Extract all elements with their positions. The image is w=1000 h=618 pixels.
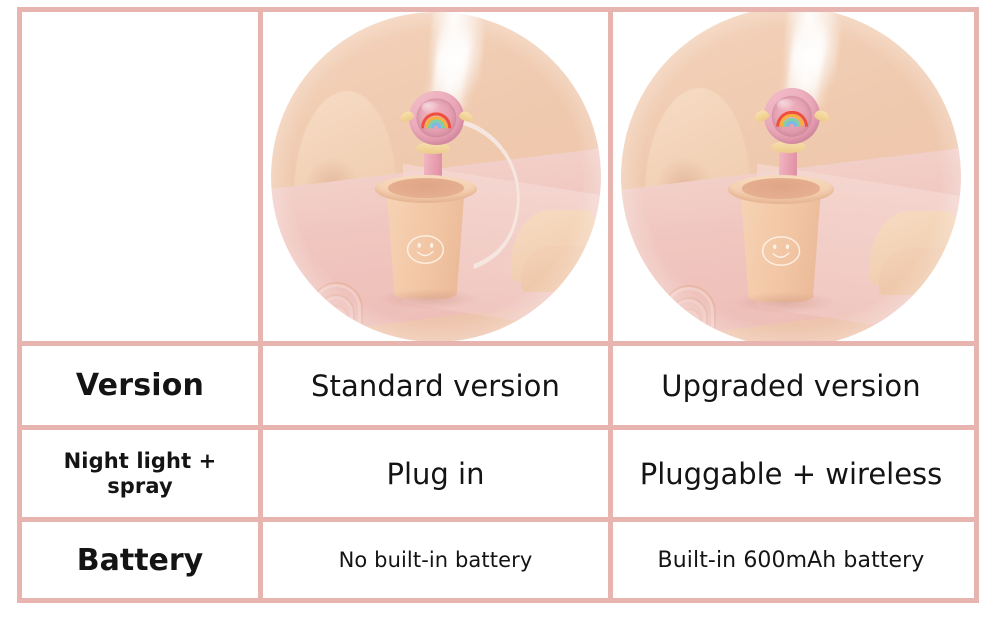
cell-battery-standard: No built-in battery <box>258 522 608 598</box>
row-label-night-light: Night light + spray <box>22 430 258 517</box>
wand-head <box>409 91 463 145</box>
wand-head <box>764 88 820 144</box>
cell-version-standard: Standard version <box>258 346 608 425</box>
cup-inner <box>742 178 820 198</box>
row-label-night-light-text: Night light + spray <box>64 449 217 499</box>
table-row-version: Version Standard version Upgraded versio… <box>22 341 974 425</box>
product-comparison-page: Version Standard version Upgraded versio… <box>0 0 1000 618</box>
cup-shadow <box>379 289 478 309</box>
lens-gloss <box>777 99 796 111</box>
table-row-night-light: Night light + spray Plug in Pluggable + … <box>22 425 974 517</box>
floor-rainbow-arc-3 <box>676 308 702 329</box>
row-label-night-light-line2: spray <box>64 474 217 499</box>
cell-night-light-upgraded: Pluggable + wireless <box>608 430 969 517</box>
lens-gloss <box>421 101 440 113</box>
rainbow-arc-blue <box>786 121 797 127</box>
table-row-battery: Battery No built-in battery Built-in 600… <box>22 517 974 598</box>
row-label-battery-text: Battery <box>77 543 204 578</box>
cell-night-light-standard-text: Plug in <box>387 457 485 491</box>
cup-shadow <box>733 292 835 312</box>
photo-scene-upgraded <box>621 12 961 341</box>
cell-night-light-upgraded-text: Pluggable + wireless <box>640 457 943 491</box>
rainbow-arc-blue <box>431 122 442 128</box>
smiley-face-icon <box>759 234 803 268</box>
cloud-prop-right-lower <box>879 248 957 296</box>
comparison-table: Version Standard version Upgraded versio… <box>17 7 979 603</box>
cell-version-upgraded: Upgraded version <box>608 346 969 425</box>
rainbow-lens <box>772 96 812 136</box>
row-label-version-text: Version <box>76 368 204 403</box>
photo-scene-standard <box>271 12 601 341</box>
cell-version-standard-text: Standard version <box>311 369 560 403</box>
smiley-face-icon <box>404 233 447 266</box>
row-label-battery: Battery <box>22 522 258 598</box>
upgraded-version-product-photo <box>613 12 969 341</box>
media-row-label-cell <box>22 12 258 341</box>
standard-version-image-cell <box>258 12 608 341</box>
row-label-night-light-line1: Night light + <box>64 449 217 474</box>
cell-night-light-standard: Plug in <box>258 430 608 517</box>
cell-version-upgraded-text: Upgraded version <box>661 369 920 403</box>
cell-battery-upgraded: Built-in 600mAh battery <box>608 522 969 598</box>
standard-version-product-photo <box>263 12 608 341</box>
upgraded-version-image-cell <box>608 12 969 341</box>
floor-rainbow-arc-3 <box>324 305 349 325</box>
cell-battery-upgraded-text: Built-in 600mAh battery <box>658 548 925 573</box>
table-row-media <box>22 12 974 341</box>
row-label-version: Version <box>22 346 258 425</box>
rainbow-lens <box>417 98 456 137</box>
cell-battery-standard-text: No built-in battery <box>339 548 533 572</box>
